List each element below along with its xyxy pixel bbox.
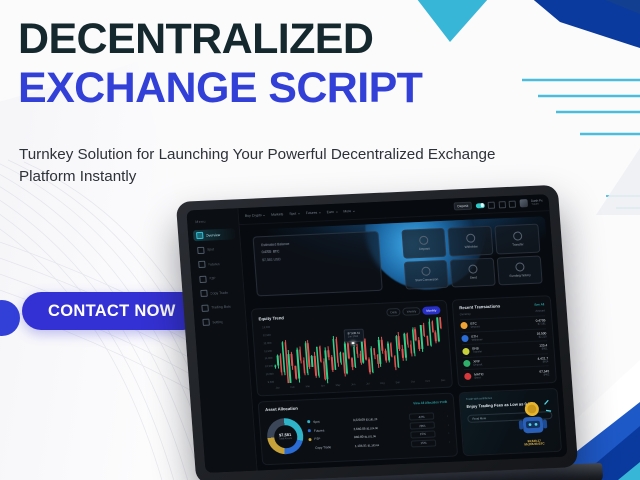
coin-icon <box>462 347 470 354</box>
nav-label: Spot <box>289 212 296 216</box>
recent-transactions-card: Recent Transactions See All Currency Amo… <box>452 295 557 387</box>
action-funding-history[interactable]: Funding history <box>497 255 543 285</box>
sidebar-item-futures[interactable]: Futures <box>195 257 238 270</box>
transaction-coin: BTCDeposit <box>470 322 479 330</box>
y-tick: 13,000 <box>259 326 271 330</box>
transaction-type: Transfer <box>472 351 482 355</box>
allocation-percent: 28% <box>410 422 435 430</box>
action-deposit[interactable]: Deposit <box>401 228 447 258</box>
balance-hero: Estimated Balance 0.4705 BTC $7,581 USD <box>245 216 550 303</box>
laptop-screen: Menu Overview Spot Futures <box>186 194 567 473</box>
allocation-title: Asset Allocation <box>265 406 298 412</box>
user-name[interactable]: Dash Fx Trader <box>531 199 543 206</box>
pill-daily[interactable]: Daily <box>386 308 401 317</box>
allocation-percent: 15% <box>410 430 435 438</box>
allocation-list: Spot3,220.69 $3,181.2042%›Futures2,640.0… <box>307 412 450 451</box>
transaction-type: Withdraw <box>472 338 483 342</box>
transactions-header: Recent Transactions See All <box>459 301 544 310</box>
promo-illustration <box>511 396 554 442</box>
sidebar-item-setting[interactable]: Setting <box>199 315 242 328</box>
sidebar-item-label: P2P <box>209 276 216 280</box>
robot-icon <box>201 304 209 311</box>
donut-center: $7,581 Total Assets <box>266 417 305 455</box>
theme-toggle[interactable] <box>476 203 485 208</box>
allocation-name: P2P <box>314 436 351 442</box>
allocation-name: Futures <box>314 427 351 433</box>
action-transfer[interactable]: Transfer <box>495 224 541 254</box>
nav-label: Futures <box>306 211 318 216</box>
allocation-name: Copy Trade <box>315 444 352 450</box>
transaction-fiat: $2,210 <box>537 335 547 339</box>
chart-icon <box>197 246 205 253</box>
x-tick: Jan <box>276 386 280 389</box>
balance-value-row: 0.4705 BTC <box>262 245 372 254</box>
transaction-coin: XRPDeposit <box>473 359 482 367</box>
transaction-fiat: $951 <box>539 348 547 352</box>
allocation-amount: 1,104.51 $1,193.61 <box>355 442 409 448</box>
topbar-deposit-button[interactable]: Deposit <box>453 201 472 211</box>
equity-plot: 13,000 12,500 12,000 11,500 11,000 10,50… <box>259 317 446 390</box>
sidebar-item-trading-bots[interactable]: Trading Bots <box>198 301 241 314</box>
promo-amount: $3,520.17 55,205.93 BTC <box>514 439 555 448</box>
action-start-conversion[interactable]: Start Conversion <box>403 259 449 289</box>
allocation-name: Spot <box>313 418 350 424</box>
allocation-dot <box>308 429 311 432</box>
history-icon <box>515 263 525 272</box>
equity-trend-card: Equity Trend Daily Weekly Monthly <box>251 300 453 397</box>
allocation-link[interactable]: View All Allocation Profit <box>413 399 447 405</box>
chevron-down-icon <box>263 214 265 215</box>
candles-icon <box>198 261 206 268</box>
allocation-amount: 3,220.69 $3,181.20 <box>353 416 407 422</box>
y-tick: 10,500 <box>262 365 274 369</box>
sidebar-item-overview[interactable]: Overview <box>193 228 236 241</box>
allocation-percent: 42% <box>409 413 434 421</box>
withdraw-icon <box>466 233 476 242</box>
y-tick: 12,000 <box>260 341 272 345</box>
y-tick: 11,000 <box>261 357 273 361</box>
sidebar-item-label: Overview <box>206 233 221 238</box>
column-currency: Currency <box>460 313 471 316</box>
nav-item-spot[interactable]: Spot <box>289 211 300 215</box>
asset-allocation-card: Asset Allocation View All Allocation Pro… <box>258 393 459 466</box>
send-icon <box>468 265 478 274</box>
transactions-list: BTCDeposit0.4705$7,581ETHWithdraw16.500$… <box>460 315 550 382</box>
copy-icon <box>200 290 208 297</box>
transaction-amount: 0.4705$7,581 <box>536 319 546 327</box>
x-tick: Nov <box>426 380 431 383</box>
transaction-amount: 67,545$402 <box>539 369 549 377</box>
y-tick: 10,000 <box>263 373 275 377</box>
quick-actions: Deposit Withdraw Transfer Start Conver <box>401 224 543 290</box>
transaction-coin: BNBTransfer <box>472 347 482 355</box>
dashboard-bottom-row: Asset Allocation View All Allocation Pro… <box>258 388 562 465</box>
action-send[interactable]: Send <box>450 257 496 287</box>
balance-card: Estimated Balance 0.4705 BTC $7,581 USD <box>252 231 382 297</box>
promo-illustration-svg <box>511 396 554 442</box>
coin-icon <box>461 335 469 342</box>
dashboard-body: Estimated Balance 0.4705 BTC $7,581 USD <box>240 211 568 470</box>
allocation-amount: 940.80 $1,101.06 <box>354 433 408 439</box>
coin-icon <box>464 372 472 379</box>
gear-icon <box>202 319 210 326</box>
x-tick: Mar <box>306 385 311 388</box>
action-label: Start Conversion <box>415 277 438 282</box>
x-tick: Jun <box>351 383 355 386</box>
balance-value: 0.4705 <box>262 250 271 254</box>
action-withdraw[interactable]: Withdraw <box>448 226 494 256</box>
allocation-percent: 15% <box>411 439 436 447</box>
x-tick: Jul <box>366 382 369 385</box>
x-tick: Apr <box>321 384 325 387</box>
chevron-down-icon <box>298 213 300 214</box>
avatar[interactable] <box>519 199 528 207</box>
transaction-coin: ETHWithdraw <box>471 334 482 342</box>
coin-icon <box>460 322 468 329</box>
y-tick: 9,500 <box>263 381 275 385</box>
balance-unit: BTC <box>273 249 280 253</box>
donut-label: Total Assets <box>279 437 293 441</box>
transaction-type: Deposit <box>473 363 482 367</box>
poster-canvas: DECENTRALIZED EXCHANGE SCRIPT Turnkey So… <box>0 0 640 480</box>
coin-icon <box>463 360 471 367</box>
nav-label: Earn <box>327 210 334 214</box>
promo-amount-line-2: 55,205.93 BTC <box>524 442 545 447</box>
contact-now-button[interactable]: CONTACT NOW <box>22 292 202 330</box>
subtitle: Turnkey Solution for Launching Your Powe… <box>19 144 519 187</box>
tooltip-label: Jun 2024 <box>348 335 361 339</box>
x-tick: May <box>336 384 341 387</box>
sidebar-item-label: Spot <box>207 247 214 251</box>
action-label: Deposit <box>419 246 430 250</box>
transaction-fiat: $654 <box>538 360 549 364</box>
topbar-right: Deposit Dash Fx Trader <box>453 198 543 211</box>
nav-label: Markets <box>271 212 283 217</box>
nav-item-earn[interactable]: Earn <box>327 210 338 214</box>
allocation-body: $7,581 Total Assets Spot3,220.69 $3,181.… <box>266 407 451 459</box>
users-icon <box>199 275 207 282</box>
allocation-more-icon[interactable]: › <box>437 422 449 427</box>
sidebar-item-label: Futures <box>208 262 220 267</box>
dashboard-main: Buy Crypto Markets Spot Futures Earn <box>238 194 567 470</box>
promo-card: Trade with confidence Enjoy Trading Fees… <box>458 388 562 456</box>
transfer-icon <box>512 231 522 240</box>
transaction-amount: 16.500$2,210 <box>536 331 546 339</box>
sidebar-item-label: Copy Trade <box>210 290 228 295</box>
x-tick: Dec <box>441 379 446 382</box>
action-label: Transfer <box>512 242 524 247</box>
chevron-down-icon <box>353 210 355 211</box>
action-label: Withdraw <box>465 244 478 249</box>
transaction-fiat: $402 <box>540 373 550 377</box>
transaction-type: Deposit <box>471 326 480 330</box>
column-amount: Amount <box>535 309 544 312</box>
globe-icon[interactable] <box>509 200 517 207</box>
transactions-title: Recent Transactions <box>459 303 500 310</box>
x-tick: Oct <box>411 380 415 383</box>
allocation-dot <box>308 438 311 441</box>
pill-monthly[interactable]: Monthly <box>422 306 441 315</box>
x-tick: Aug <box>380 382 385 385</box>
timeframe-pills: Daily Weekly Monthly <box>386 306 441 316</box>
dashboard-middle-row: Equity Trend Daily Weekly Monthly <box>251 295 557 396</box>
y-tick: 11,500 <box>261 349 273 353</box>
pill-weekly[interactable]: Weekly <box>403 307 421 316</box>
transaction-fiat: $7,581 <box>536 323 546 327</box>
transaction-amount: 4,421.7$654 <box>537 356 548 364</box>
chevron-down-icon <box>319 212 321 213</box>
nav-item-markets[interactable]: Markets <box>271 212 283 217</box>
laptop-mockup: Menu Overview Spot Futures <box>176 185 578 480</box>
allocation-more-icon[interactable]: › <box>437 414 449 419</box>
transaction-row[interactable]: MATICSend67,545$402 <box>464 366 550 382</box>
wallet-icon[interactable] <box>499 201 507 208</box>
nav-item-buy-crypto[interactable]: Buy Crypto <box>245 213 266 218</box>
transaction-amount: 120.4$951 <box>539 344 548 352</box>
deposit-icon <box>419 235 429 244</box>
transaction-type: Send <box>474 376 484 380</box>
sidebar-header: Menu <box>195 218 234 224</box>
action-label: Send <box>470 276 478 280</box>
headline-line-1: DECENTRALIZED <box>18 18 488 60</box>
transactions-see-all-link[interactable]: See All <box>534 302 544 306</box>
laptop-lid: Menu Overview Spot Futures <box>176 185 578 480</box>
nav-label: Buy Crypto <box>245 213 262 218</box>
allocation-dot <box>309 447 312 450</box>
chevron-down-icon <box>335 211 337 212</box>
transaction-coin: MATICSend <box>474 372 484 380</box>
bell-icon[interactable] <box>488 201 496 208</box>
grid-icon <box>196 232 204 239</box>
action-label: Funding history <box>509 273 530 278</box>
balance-secondary: $7,581 USD <box>262 253 372 262</box>
allocation-more-icon[interactable]: › <box>438 431 450 436</box>
headline-line-2: EXCHANGE SCRIPT <box>18 67 488 111</box>
nav-item-futures[interactable]: Futures <box>306 210 321 215</box>
convert-icon <box>421 267 431 276</box>
page-title: DECENTRALIZED EXCHANGE SCRIPT <box>18 18 488 111</box>
allocation-donut-chart: $7,581 Total Assets <box>266 417 305 455</box>
nav-item-more[interactable]: More <box>343 209 355 213</box>
sidebar-item-label: Trading Bots <box>211 305 231 310</box>
chart-tooltip: $7,530.41 Jun 2024 <box>343 328 364 342</box>
sidebar-item-label: Setting <box>212 319 223 323</box>
sidebar-item-copy-trade[interactable]: Copy Trade <box>197 286 240 299</box>
sidebar-item-p2p[interactable]: P2P <box>196 272 239 285</box>
x-tick: Feb <box>290 386 295 389</box>
x-tick: Sep <box>395 381 400 384</box>
sidebar-item-spot[interactable]: Spot <box>194 243 237 256</box>
allocation-more-icon[interactable]: › <box>439 440 451 445</box>
allocation-amount: 2,640.05 $2,104.90 <box>353 424 407 430</box>
user-role-label: Trader <box>531 203 543 207</box>
allocation-dot <box>307 420 310 423</box>
equity-title: Equity Trend <box>258 315 284 321</box>
nav-label: More <box>343 209 351 213</box>
y-tick: 12,500 <box>260 334 272 338</box>
